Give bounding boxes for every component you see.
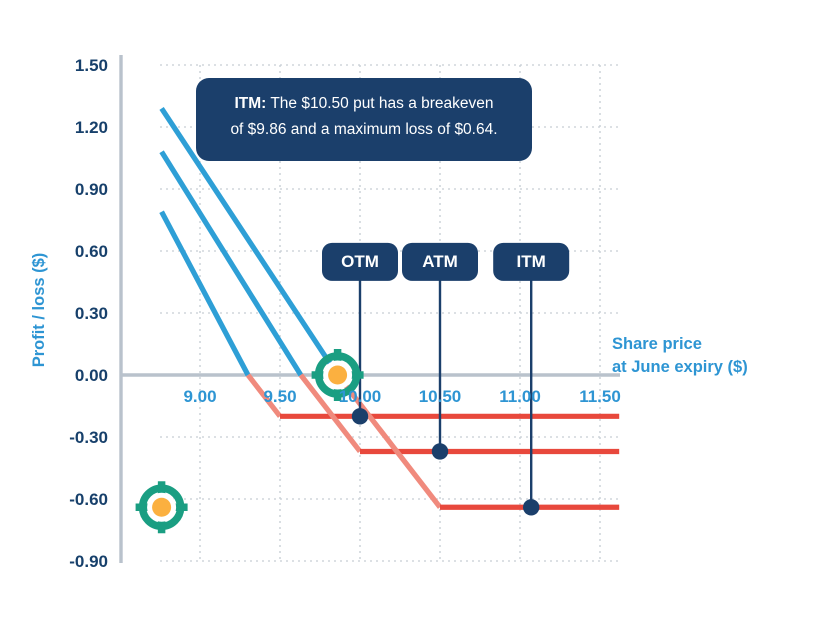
x-tick-label: 11.00 — [499, 387, 541, 406]
y-tick-label: 0.30 — [75, 304, 108, 323]
marker-dot-itm — [523, 499, 539, 515]
x-tick-label: 9.50 — [263, 387, 296, 406]
crosshair-center-dot — [328, 366, 347, 385]
y-tick-label: 0.60 — [75, 242, 108, 261]
moneyness-badges: OTMATMITM — [322, 243, 569, 281]
callout-annotation: ITM: The $10.50 put has a breakevenof $9… — [196, 78, 532, 161]
callout-line-1: ITM: The $10.50 put has a breakeven — [234, 95, 493, 112]
y-tick-label: 0.90 — [75, 180, 108, 199]
y-axis-ticks: 1.501.200.900.600.300.00-0.30-0.60-0.90 — [69, 56, 108, 571]
y-tick-label: 1.20 — [75, 118, 108, 137]
x-tick-label: 10.00 — [339, 387, 382, 406]
crosshair-center-dot — [152, 498, 171, 517]
x-tick-label: 9.00 — [183, 387, 216, 406]
itm-callout: ITM: The $10.50 put has a breakevenof $9… — [196, 78, 532, 161]
badge-label: ITM — [517, 252, 546, 271]
x-axis-title-line-1: Share price — [612, 335, 702, 353]
badge-itm[interactable]: ITM — [493, 243, 569, 281]
y-tick-label: 1.50 — [75, 56, 108, 75]
badge-otm[interactable]: OTM — [322, 243, 398, 281]
max-loss-marker — [136, 481, 188, 533]
y-axis-title: Profit / loss ($) — [30, 253, 48, 368]
chart-container: 1.501.200.900.600.300.00-0.30-0.60-0.90 … — [0, 0, 815, 639]
payoff-chart: 1.501.200.900.600.300.00-0.30-0.60-0.90 … — [0, 0, 815, 639]
y-tick-label: -0.90 — [69, 552, 108, 571]
callout-line-1-rest: The $10.50 put has a breakeven — [266, 95, 493, 112]
x-tick-label: 10.50 — [419, 387, 462, 406]
y-tick-label: 0.00 — [75, 366, 108, 385]
callout-bold-prefix: ITM: — [234, 95, 266, 112]
x-axis-title-line-2: at June expiry ($) — [612, 358, 748, 376]
series-markers — [352, 408, 540, 515]
badge-label: OTM — [341, 252, 379, 271]
profit-segment-otm — [162, 212, 248, 375]
y-tick-label: -0.30 — [69, 428, 108, 447]
marker-dot-otm — [352, 408, 368, 424]
badge-label: ATM — [422, 252, 458, 271]
series-layer — [162, 108, 620, 507]
x-axis-ticks: 9.009.5010.0010.5011.0011.50 — [183, 387, 620, 406]
y-tick-label: -0.60 — [69, 490, 108, 509]
badge-atm[interactable]: ATM — [402, 243, 478, 281]
callout-line-2: of $9.86 and a maximum loss of $0.64. — [230, 121, 497, 138]
marker-dot-atm — [432, 443, 448, 459]
callout-background — [196, 78, 532, 161]
x-tick-label: 11.50 — [579, 387, 621, 406]
